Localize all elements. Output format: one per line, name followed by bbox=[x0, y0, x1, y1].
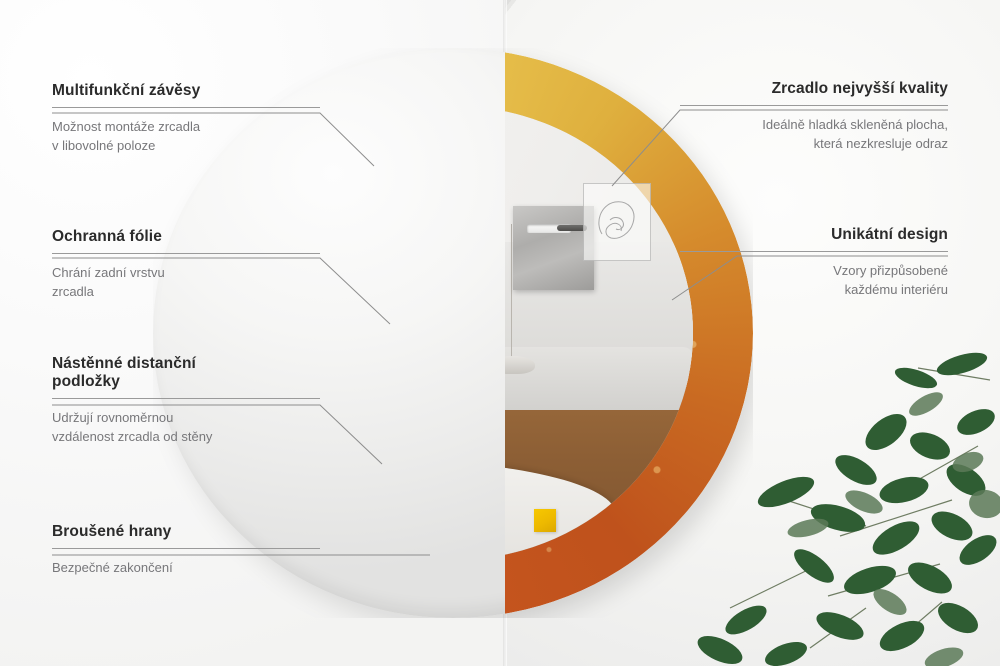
callout-title: Zrcadlo nejvyšší kvality bbox=[680, 80, 948, 98]
callout-ground-edges: Broušené hrany Bezpečné zakončení bbox=[52, 523, 320, 578]
callout-rule bbox=[680, 251, 948, 252]
callout-title: Unikátní design bbox=[680, 226, 948, 244]
callout-description: Ideálně hladká skleněná plocha, která ne… bbox=[680, 116, 948, 154]
callout-rule bbox=[52, 398, 320, 399]
callout-title: Broušené hrany bbox=[52, 523, 320, 541]
callout-rule bbox=[52, 107, 320, 108]
callout-description: Chrání zadní vrstvu zrcadla bbox=[52, 264, 320, 302]
callout-title: Multifunkční závěsy bbox=[52, 82, 320, 100]
callout-description: Udržují rovnoměrnou vzdálenost zrcadla o… bbox=[52, 409, 320, 447]
callout-description: Vzory přizpůsobené každému interiéru bbox=[680, 262, 948, 300]
callout-rule bbox=[52, 548, 320, 549]
infographic-canvas: Multifunkční závěsy Možnost montáže zrca… bbox=[0, 0, 1000, 666]
callout-title: Ochranná fólie bbox=[52, 228, 320, 246]
callout-title: Nástěnné distanční podložky bbox=[52, 355, 320, 391]
callout-wall-spacers: Nástěnné distanční podložky Udržují rovn… bbox=[52, 355, 320, 447]
callout-protective-foil: Ochranná fólie Chrání zadní vrstvu zrcad… bbox=[52, 228, 320, 302]
callout-rule bbox=[680, 105, 948, 106]
callout-description: Bezpečné zakončení bbox=[52, 559, 320, 578]
callout-multifunction-hangers: Multifunkční závěsy Možnost montáže zrca… bbox=[52, 82, 320, 156]
callout-top-quality-mirror: Zrcadlo nejvyšší kvality Ideálně hladká … bbox=[680, 80, 948, 154]
callout-rule bbox=[52, 253, 320, 254]
callout-description: Možnost montáže zrcadla v libovolné polo… bbox=[52, 118, 320, 156]
callout-unique-design: Unikátní design Vzory přizpůsobené každé… bbox=[680, 226, 948, 300]
